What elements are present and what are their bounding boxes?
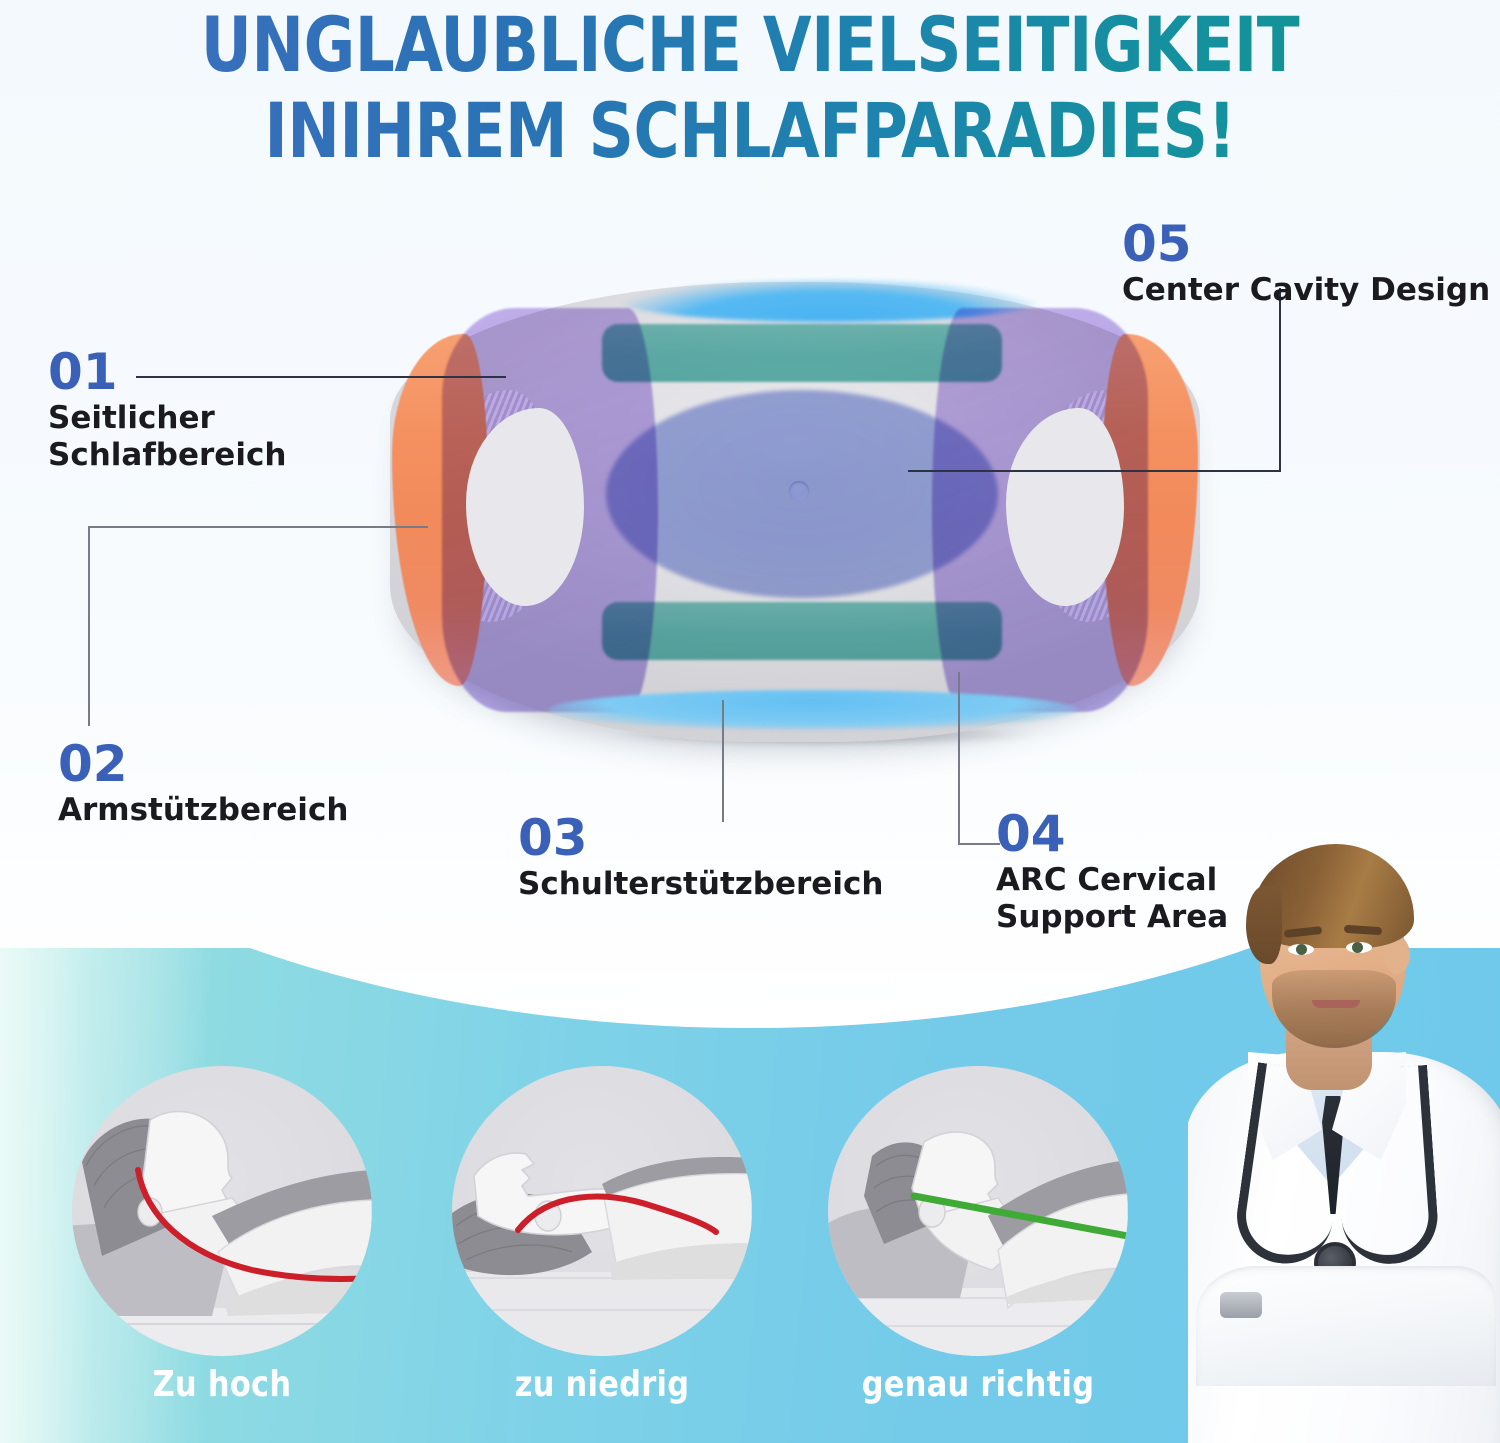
stethoscope-tube-right xyxy=(1331,1065,1440,1267)
callout-01: 01 Seitlicher Schlafbereich xyxy=(48,346,286,474)
posture-svg-2 xyxy=(452,1066,752,1356)
pillow-bottom-blue-band xyxy=(548,690,1078,730)
posture-illustration-just-right xyxy=(828,1066,1128,1356)
center-cavity-dimple xyxy=(789,481,809,501)
headline-line-1: UNGLAUBLICHE VIELSEITIGKEIT xyxy=(60,2,1440,88)
leader-line-04-horizontal xyxy=(958,843,1000,845)
posture-illustration-too-high xyxy=(72,1066,372,1356)
leader-line-02-vertical xyxy=(88,526,90,726)
callout-03: 03 Schulterstützbereich xyxy=(518,812,883,903)
doctor-pupil-right xyxy=(1352,942,1363,953)
callout-05-number: 05 xyxy=(1122,218,1490,270)
leader-line-02-horizontal xyxy=(88,526,428,528)
callout-05: 05 Center Cavity Design xyxy=(1122,218,1490,309)
callout-05-label: Center Cavity Design xyxy=(1122,272,1490,309)
comparison-circles: Zu hoch xyxy=(0,1066,1200,1366)
posture-svg-1 xyxy=(72,1066,372,1356)
comparison-caption-3: genau richtig xyxy=(837,1364,1119,1405)
leader-line-03 xyxy=(722,700,724,822)
doctor-crossed-arms xyxy=(1196,1266,1496,1386)
callout-02-label: Armstützbereich xyxy=(58,792,348,829)
doctor-photo xyxy=(1188,800,1500,1443)
callout-01-number: 01 xyxy=(48,346,286,398)
posture-svg-3 xyxy=(828,1066,1128,1356)
headline: UNGLAUBLICHE VIELSEITIGKEIT INIHREM SCHL… xyxy=(0,2,1500,174)
infographic-page: UNGLAUBLICHE VIELSEITIGKEIT INIHREM SCHL… xyxy=(0,0,1500,1443)
headline-line-2: INIHREM SCHLAFPARADIES! xyxy=(60,88,1440,174)
callout-01-label: Seitlicher Schlafbereich xyxy=(48,400,286,474)
zone-shoulder-support-top xyxy=(602,324,1002,382)
callout-03-number: 03 xyxy=(518,812,883,864)
pillow-diagram xyxy=(370,272,1220,762)
doctor-mouth xyxy=(1312,1000,1360,1008)
leader-line-05-horizontal xyxy=(908,470,1280,472)
leader-line-05-vertical xyxy=(1279,288,1281,472)
posture-illustration-too-low xyxy=(452,1066,752,1356)
doctor-pupil-left xyxy=(1296,944,1307,955)
zone-shoulder-support-bottom xyxy=(602,602,1002,660)
doctor-hair-side xyxy=(1246,886,1282,964)
callout-03-label: Schulterstützbereich xyxy=(518,866,883,903)
comparison-caption-2: zu niedrig xyxy=(461,1364,743,1405)
callout-02-number: 02 xyxy=(58,738,348,790)
comparison-item-3: genau richtig xyxy=(828,1066,1128,1366)
callout-02: 02 Armstützbereich xyxy=(58,738,348,829)
doctor-wristwatch xyxy=(1220,1292,1262,1318)
comparison-item-1: Zu hoch xyxy=(72,1066,372,1366)
leader-line-04-vertical xyxy=(958,672,960,844)
comparison-caption-1: Zu hoch xyxy=(81,1364,363,1405)
comparison-item-2: zu niedrig xyxy=(452,1066,752,1366)
